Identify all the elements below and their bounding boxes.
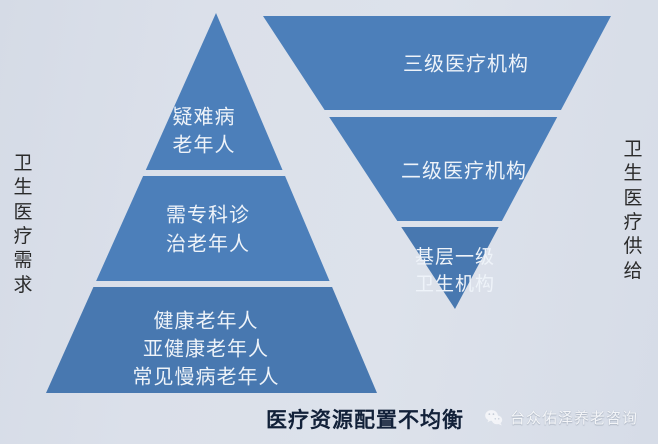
diagram-canvas: 疑难病 老年人 需专科诊 治老年人 健康老年人 亚健康老年人 常见慢病老年人 三… — [0, 0, 658, 444]
demand-tier-top-line-2: 老年人 — [173, 133, 236, 156]
demand-tier-middle-line-2: 治老年人 — [166, 232, 250, 255]
supply-side-label: 卫生医疗供给 — [620, 138, 646, 284]
watermark: 台众佑泽养老咨询 — [484, 407, 638, 428]
diagram-caption: 医疗资源配置不均衡 — [266, 404, 464, 434]
supply-tier-bottom-line-2: 卫生机构 — [415, 273, 495, 295]
demand-tier-middle-shape — [30, 176, 400, 281]
pyramid-figure: 疑难病 老年人 需专科诊 治老年人 健康老年人 亚健康老年人 常见慢病老年人 三… — [0, 0, 658, 444]
demand-tier-middle-line-1: 需专科诊 — [166, 203, 250, 226]
demand-tier-top-line-1: 疑难病 — [173, 105, 236, 128]
supply-tier-middle-line-1: 二级医疗机构 — [401, 159, 527, 182]
demand-tier-bottom-line-2: 亚健康老年人 — [143, 337, 269, 360]
demand-tier-bottom-line-1: 健康老年人 — [154, 309, 259, 332]
wechat-icon — [484, 408, 504, 428]
supply-tier-top-line-1: 三级医疗机构 — [403, 52, 529, 75]
demand-tier-bottom-line-3: 常见慢病老年人 — [133, 365, 280, 388]
watermark-text: 台众佑泽养老咨询 — [510, 407, 638, 428]
supply-tier-bottom-line-1: 基层一级 — [415, 246, 495, 268]
demand-side-label: 卫生医疗需求 — [10, 152, 36, 298]
